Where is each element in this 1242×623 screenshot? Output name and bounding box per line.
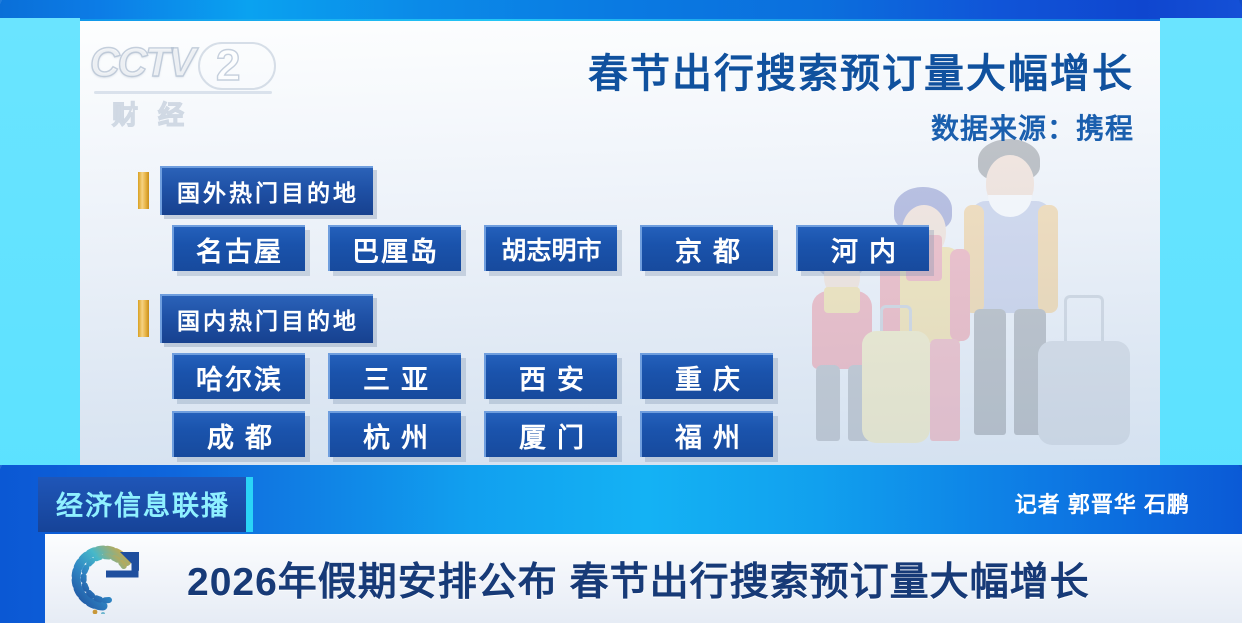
data-source-label: 数据来源：携程 — [588, 107, 1134, 147]
chip-row-domestic-1: 哈尔滨 三亚 西安 重庆 — [172, 353, 773, 399]
top-decorative-strip — [0, 0, 1242, 19]
destination-chip[interactable]: 京都 — [640, 225, 773, 271]
content-panel: CCTV 2 财经 春节出行搜索预订量大幅增长 数据来源：携程 国外热门目的地 … — [80, 21, 1160, 465]
broadcast-frame: CCTV 2 财经 春节出行搜索预订量大幅增长 数据来源：携程 国外热门目的地 … — [0, 0, 1242, 623]
cctv-logo-number: 2 — [216, 41, 240, 91]
destination-chip[interactable]: 三亚 — [328, 353, 461, 399]
gold-accent-bar-icon — [138, 300, 149, 337]
gold-accent-bar-icon — [138, 172, 149, 209]
chip-row-overseas-1: 名古屋 巴厘岛 胡志明市 京都 河内 — [172, 225, 929, 271]
section-label-overseas: 国外热门目的地 — [160, 166, 373, 215]
reporters-credit: 记者 郭晋华 石鹏 — [1015, 487, 1190, 519]
destination-chip[interactable]: 厦门 — [484, 411, 617, 457]
section-header-domestic: 国内热门目的地 — [138, 294, 373, 343]
cctv-logo-rule — [94, 91, 272, 94]
news-swirl-arrow-icon — [59, 544, 177, 614]
program-name-badge: 经济信息联播 — [38, 477, 253, 532]
destination-chip[interactable]: 重庆 — [640, 353, 773, 399]
destination-chip[interactable]: 西安 — [484, 353, 617, 399]
destination-chip[interactable]: 名古屋 — [172, 225, 305, 271]
destination-chip[interactable]: 巴厘岛 — [328, 225, 461, 271]
news-headline-text: 2026年假期安排公布 春节出行搜索预订量大幅增长 — [187, 551, 1090, 607]
destination-chip[interactable]: 河内 — [796, 225, 929, 271]
cctv-channel-logo: CCTV 2 财经 — [90, 39, 280, 131]
page-title: 春节出行搜索预订量大幅增长 — [588, 51, 1134, 97]
chip-row-domestic-2: 成都 杭州 厦门 福州 — [172, 411, 773, 457]
section-header-overseas: 国外热门目的地 — [138, 166, 373, 215]
news-headline-bar: 2026年假期安排公布 春节出行搜索预订量大幅增长 — [45, 534, 1242, 623]
section-label-domestic: 国内热门目的地 — [160, 294, 373, 343]
destination-chip[interactable]: 福州 — [640, 411, 773, 457]
destination-chip[interactable]: 哈尔滨 — [172, 353, 305, 399]
destination-chip[interactable]: 成都 — [172, 411, 305, 457]
suitcase-grey — [1038, 341, 1130, 445]
suitcase-yellow — [862, 331, 930, 443]
panel-headline-block: 春节出行搜索预订量大幅增长 数据来源：携程 — [588, 51, 1134, 147]
destination-chip[interactable]: 杭州 — [328, 411, 461, 457]
destination-chip[interactable]: 胡志明市 — [484, 225, 617, 271]
travellers-illustration — [802, 135, 1132, 465]
cctv-logo-subtitle: 财经 — [112, 95, 204, 132]
